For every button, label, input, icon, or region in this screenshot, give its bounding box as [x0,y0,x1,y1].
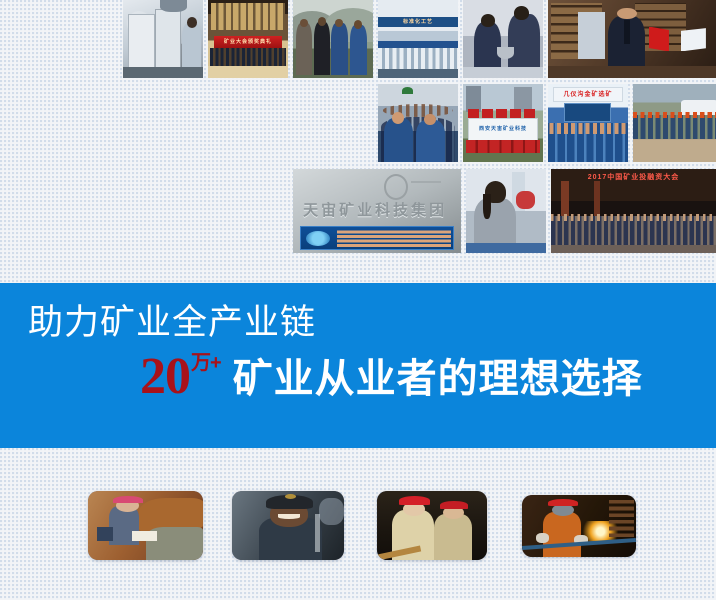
white-banner-text: 西安天宙矿业科技 [468,125,538,132]
photo-four-men-mountain-site[interactable] [293,0,373,78]
photo-worker-team-group[interactable] [378,84,458,162]
photo-woman-lab-sampling[interactable] [466,169,546,253]
promo-banner: 助力矿业全产业链 20 万+ 矿业从业者的理想选择 [0,283,716,448]
photo-collage: 矿业大会颁奖典礼 标准化工艺 [0,0,716,270]
conference-banner-text: 2017中国矿业投融资大会 [564,172,703,182]
photo-outdoor-banner-ceremony[interactable]: 西安天宙矿业科技 [463,84,543,162]
photo-production-line-flotation[interactable]: 标准化工艺 [378,0,458,78]
photo-blue-uniform-team-mine-plant[interactable]: 几仪沟金矿选矿 [548,84,628,162]
photo-executive-portrait-office[interactable] [548,0,716,78]
thumb-smiling-miner-helmet[interactable] [232,491,344,560]
photo-lab-equipment-operator[interactable] [123,0,203,78]
photo-conference-stage-ceremony[interactable]: 矿业大会颁奖典礼 [208,0,288,78]
banner-big-number: 20 [140,351,190,403]
thumb-furnace-worker-orange-suit[interactable] [522,495,636,557]
thumb-two-workers-red-helmets[interactable] [377,491,487,560]
banner-headline: 助力矿业全产业链 [28,303,316,343]
company-sign-text: 天宙矿业科技集团 [303,199,451,220]
overhead-sign-text: 标准化工艺 [383,18,453,25]
photo-two-technicians-testing[interactable] [463,0,543,78]
plant-sign-text: 几仪沟金矿选矿 [553,89,623,98]
photo-helmet-crew-van-desert[interactable] [633,84,716,162]
page-root: 矿业大会颁奖典礼 标准化工艺 [0,0,716,600]
banner-number-unit: 万+ [191,353,221,373]
thumb-geologist-field-survey[interactable] [88,491,203,560]
thumbnail-strip [0,470,716,600]
stage-banner-text: 矿业大会颁奖典礼 [213,38,283,45]
banner-subheadline: 20 万+ 矿业从业者的理想选择 [140,351,643,403]
photo-company-sign-wall[interactable]: 天宙矿业科技集团 [293,169,461,253]
photo-annual-conference-group-photo[interactable]: 2017中国矿业投融资大会 [551,169,716,253]
banner-tail-text: 矿业从业者的理想选择 [233,358,643,400]
